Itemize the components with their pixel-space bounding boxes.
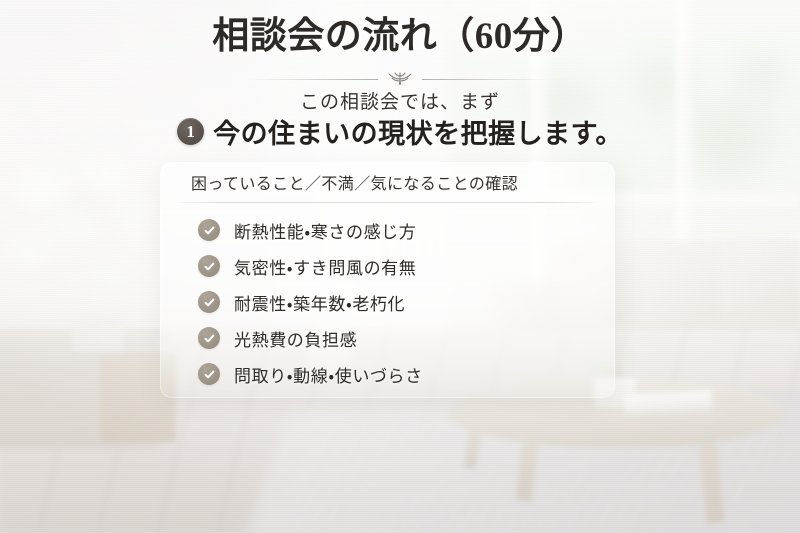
list-item: 耐震性・築年数・老朽化 (198, 286, 615, 318)
slide-content: 相談会の流れ（60分） この相談会では、まず 1 今の住まいの現状を (0, 0, 800, 533)
divider-line-right (422, 79, 550, 80)
check-circle-icon (198, 363, 220, 385)
list-item: 問取り・動線・使いづらさ (198, 358, 615, 390)
checklist: 断熱性能・寒さの感じ方 気密性・すき問風の有無 (160, 214, 615, 394)
headline-row: 1 今の住まいの現状を把握します。 (0, 112, 800, 151)
page-title: 相談会の流れ（60分） (0, 16, 800, 57)
list-item-label: 断熱性能・寒さの感じ方 (234, 218, 416, 243)
list-item: 断熱性能・寒さの感じ方 (198, 214, 615, 246)
list-item-label: 耐震性・築年数・老朽化 (234, 290, 405, 315)
checklist-card: 困っていること／不満／気になることの確認 断熱性能・寒さの感じ方 (160, 162, 615, 398)
check-circle-icon (198, 219, 220, 241)
card-header: 困っていること／不満／気になることの確認 (160, 162, 615, 202)
fleuron-ornament-icon (377, 70, 423, 88)
list-item-label: 問取り・動線・使いづらさ (234, 362, 423, 387)
card-header-label: 困っていること／不満／気になることの確認 (191, 170, 518, 194)
slide-canvas: 相談会の流れ（60分） この相談会では、まず 1 今の住まいの現状を (0, 0, 800, 533)
step-number-badge: 1 (177, 118, 204, 145)
check-circle-icon (198, 255, 220, 277)
list-item-label: 光熱費の負担感 (234, 326, 357, 351)
card-divider (172, 202, 603, 203)
check-circle-icon (198, 327, 220, 349)
list-item-label: 気密性・すき問風の有無 (234, 254, 416, 279)
headline-text: 今の住まいの現状を把握します。 (213, 112, 623, 151)
subtitle: この相談会では、まず (0, 87, 800, 114)
list-item: 気密性・すき問風の有無 (198, 250, 615, 282)
list-item: 光熱費の負担感 (198, 322, 615, 354)
divider-line-left (250, 79, 378, 80)
check-circle-icon (198, 291, 220, 313)
